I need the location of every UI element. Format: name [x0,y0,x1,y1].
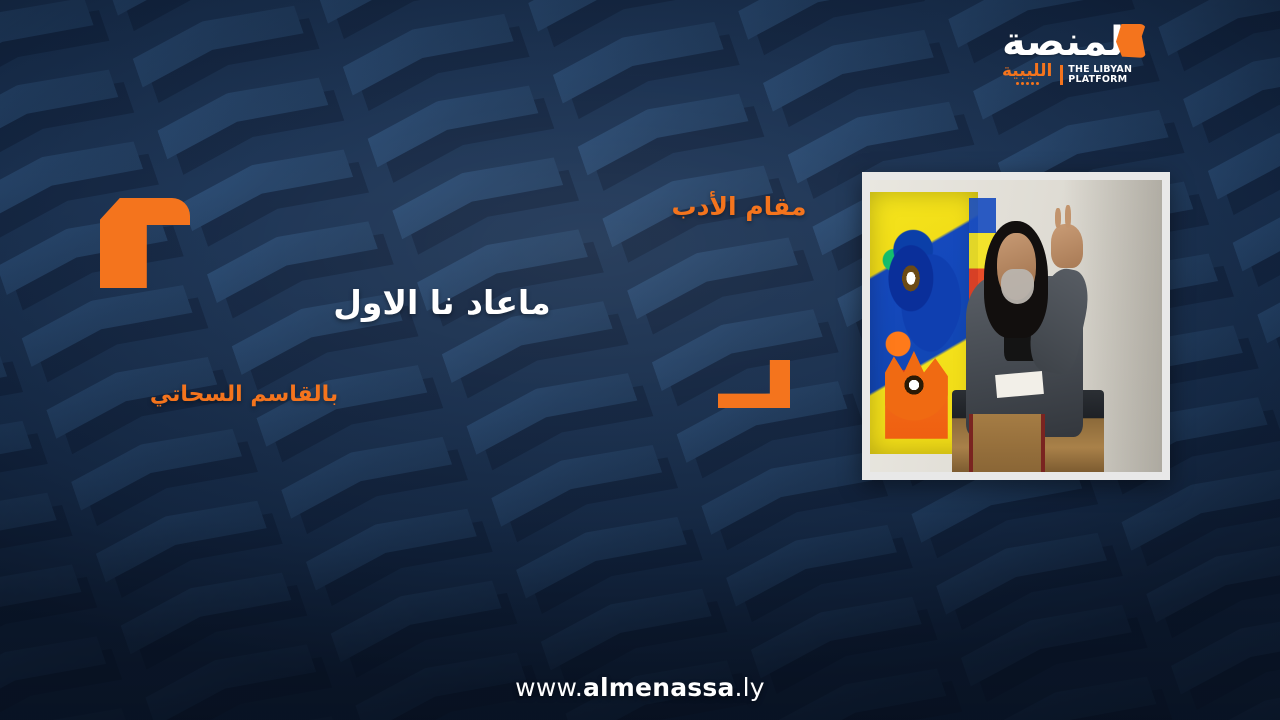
episode-title: ماعاد نا الاول [322,283,562,322]
brand-logo: المنصة THE LIBYAN PLATFORM الليبية [1002,22,1172,85]
logo-arabic-wordmark: المنصة [1002,22,1138,62]
site-url-prefix: www. [515,673,583,702]
guest-name: بالقاسم السحاتي [146,382,342,407]
guest-photo [870,180,1162,472]
photo-podium-front [969,414,1045,472]
site-url: www.almenassa.ly [0,673,1280,702]
logo-english-lockup: THE LIBYAN PLATFORM [1060,65,1132,85]
program-title: مقام الأدب [664,192,814,221]
logo-en-line2: PLATFORM [1068,75,1132,85]
guest-photo-frame [862,172,1170,480]
logo-subtitle-row: THE LIBYAN PLATFORM الليبية [1002,63,1172,85]
site-url-tld: .ly [735,673,765,702]
site-url-domain: almenassa [583,673,735,702]
corner-bracket-small-icon [718,360,790,408]
logo-dots-ornament [1002,82,1052,85]
corner-bracket-large-icon [100,198,190,288]
logo-sub-text: الليبية [1002,63,1052,80]
photo-person-hand [1051,224,1083,268]
photo-person-beard [1001,269,1033,304]
promo-card: المنصة THE LIBYAN PLATFORM الليبية مقام … [0,0,1280,720]
photo-papers [995,371,1044,398]
logo-arabic-sub-group: الليبية [1002,63,1052,85]
